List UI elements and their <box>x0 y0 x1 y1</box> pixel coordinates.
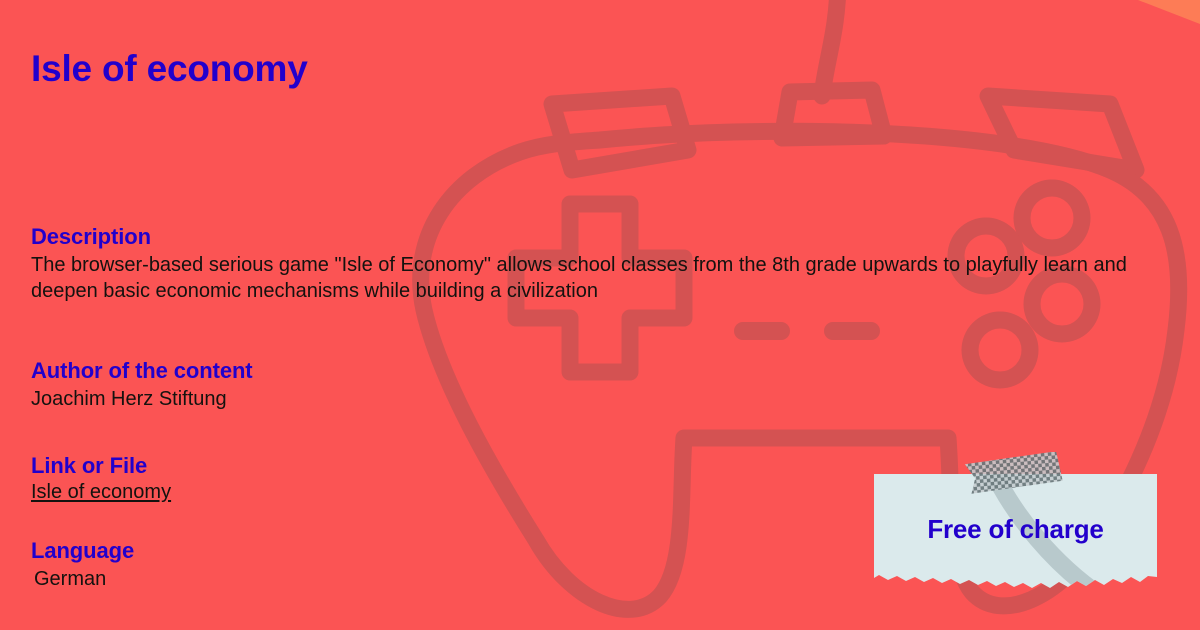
author-name: Joachim Herz Stiftung <box>31 386 651 412</box>
author-heading: Author of the content <box>31 358 651 384</box>
resource-link[interactable]: Isle of economy <box>31 481 171 503</box>
section-description: Description The browser-based serious ga… <box>31 224 1151 304</box>
link-heading: Link or File <box>31 453 651 479</box>
free-of-charge-badge: Free of charge <box>874 452 1164 597</box>
washi-tape-icon <box>962 452 1066 498</box>
description-heading: Description <box>31 224 1151 250</box>
badge-label: Free of charge <box>874 514 1157 545</box>
description-text: The browser-based serious game "Isle of … <box>31 252 1151 304</box>
section-link: Link or File Isle of economy <box>31 453 651 504</box>
page-title: Isle of economy <box>31 48 308 90</box>
section-language: Language German <box>31 538 651 592</box>
section-author: Author of the content Joachim Herz Stift… <box>31 358 651 412</box>
resource-card: Isle of economy Description The browser-… <box>0 0 1200 630</box>
language-value: German <box>31 566 651 592</box>
language-heading: Language <box>31 538 651 564</box>
